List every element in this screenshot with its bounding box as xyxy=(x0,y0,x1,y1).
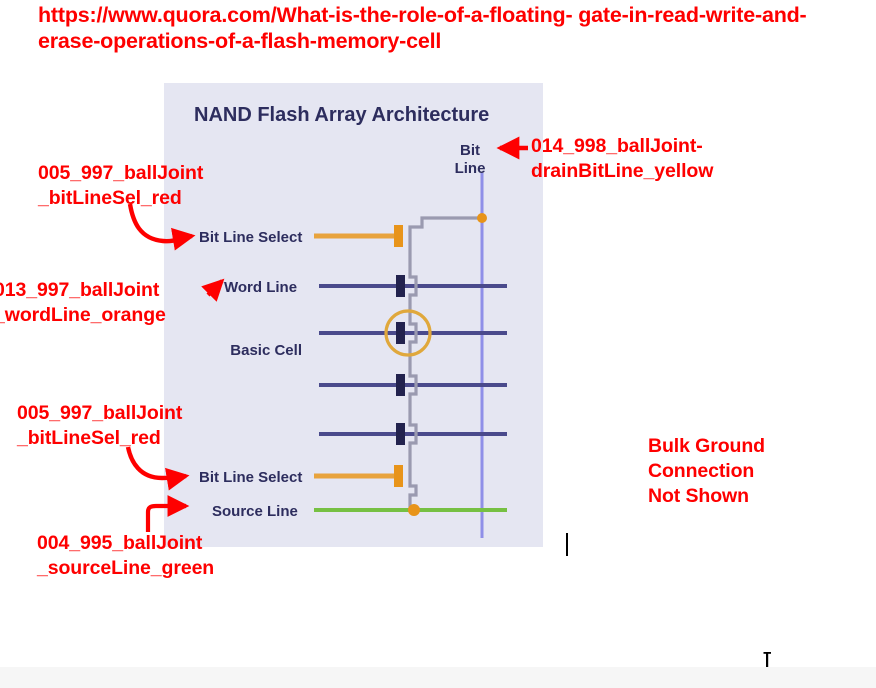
annotation-drain-bitline: 014_998_ballJoint- drainBitLine_yellow xyxy=(531,134,713,184)
bit-line-select-label-bottom: Bit Line Select xyxy=(199,469,302,486)
diagram-title: NAND Flash Array Architecture xyxy=(194,104,489,126)
nand-flash-schematic: NAND Flash Array Architecture Bit Line B… xyxy=(164,83,543,547)
annotation-bulk-ground-note: Bulk Ground Connection Not Shown xyxy=(648,434,765,509)
gate-electrode-row-3 xyxy=(396,374,405,396)
page-url-heading: https://www.quora.com/What-is-the-role-o… xyxy=(38,2,838,54)
annotation-bitlinesel-bottom: 005_997_ballJoint _bitLineSel_red xyxy=(17,401,182,451)
nand-flash-diagram-panel: NAND Flash Array Architecture Bit Line B… xyxy=(164,83,543,547)
basic-cell-label: Basic Cell xyxy=(230,342,302,359)
bit-line-label-line1: Bit xyxy=(460,142,480,159)
source-line-node-dot xyxy=(408,504,420,516)
drain-bit-line-node-dot xyxy=(477,213,487,223)
gate-electrode-select-top xyxy=(394,225,403,247)
gate-electrode-row-2-basic-cell xyxy=(396,322,405,344)
transistor-channel-path xyxy=(410,218,482,510)
bottom-status-strip xyxy=(0,667,876,688)
bit-line-label-line2: Line xyxy=(455,160,486,177)
gate-electrode-row-4 xyxy=(396,423,405,445)
annotation-wordline: 013_997_ballJoint _wordLine_orange xyxy=(0,278,166,328)
annotation-bitlinesel-top: 005_997_ballJoint _bitLineSel_red xyxy=(38,161,203,211)
page-canvas: https://www.quora.com/What-is-the-role-o… xyxy=(0,0,876,688)
gate-electrode-row-1 xyxy=(396,275,405,297)
word-line-label: Word Line xyxy=(224,279,297,296)
text-caret xyxy=(566,533,568,556)
source-line-label: Source Line xyxy=(212,503,298,520)
bit-line-select-label-top: Bit Line Select xyxy=(199,229,302,246)
gate-electrode-select-bottom xyxy=(394,465,403,487)
annotation-sourceline: 004_995_ballJoint _sourceLine_green xyxy=(37,531,214,581)
